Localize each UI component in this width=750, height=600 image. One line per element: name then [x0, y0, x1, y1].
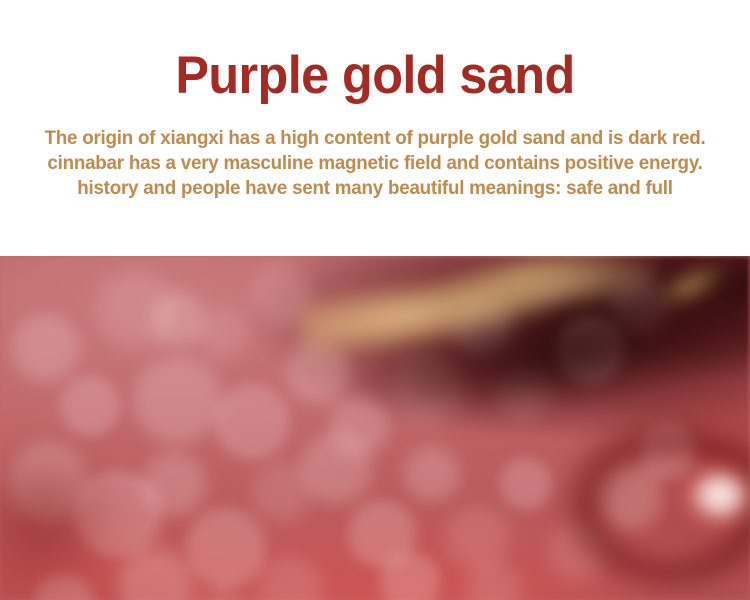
- page-title: Purple gold sand: [19, 47, 732, 105]
- banner-description: The origin of xiangxi has a high content…: [38, 126, 712, 201]
- product-banner: Purple gold sand The origin of xiangxi h…: [0, 0, 750, 600]
- banner-header: Purple gold sand The origin of xiangxi h…: [0, 0, 750, 256]
- photo-vignette: [0, 256, 750, 600]
- product-photo: [0, 256, 750, 600]
